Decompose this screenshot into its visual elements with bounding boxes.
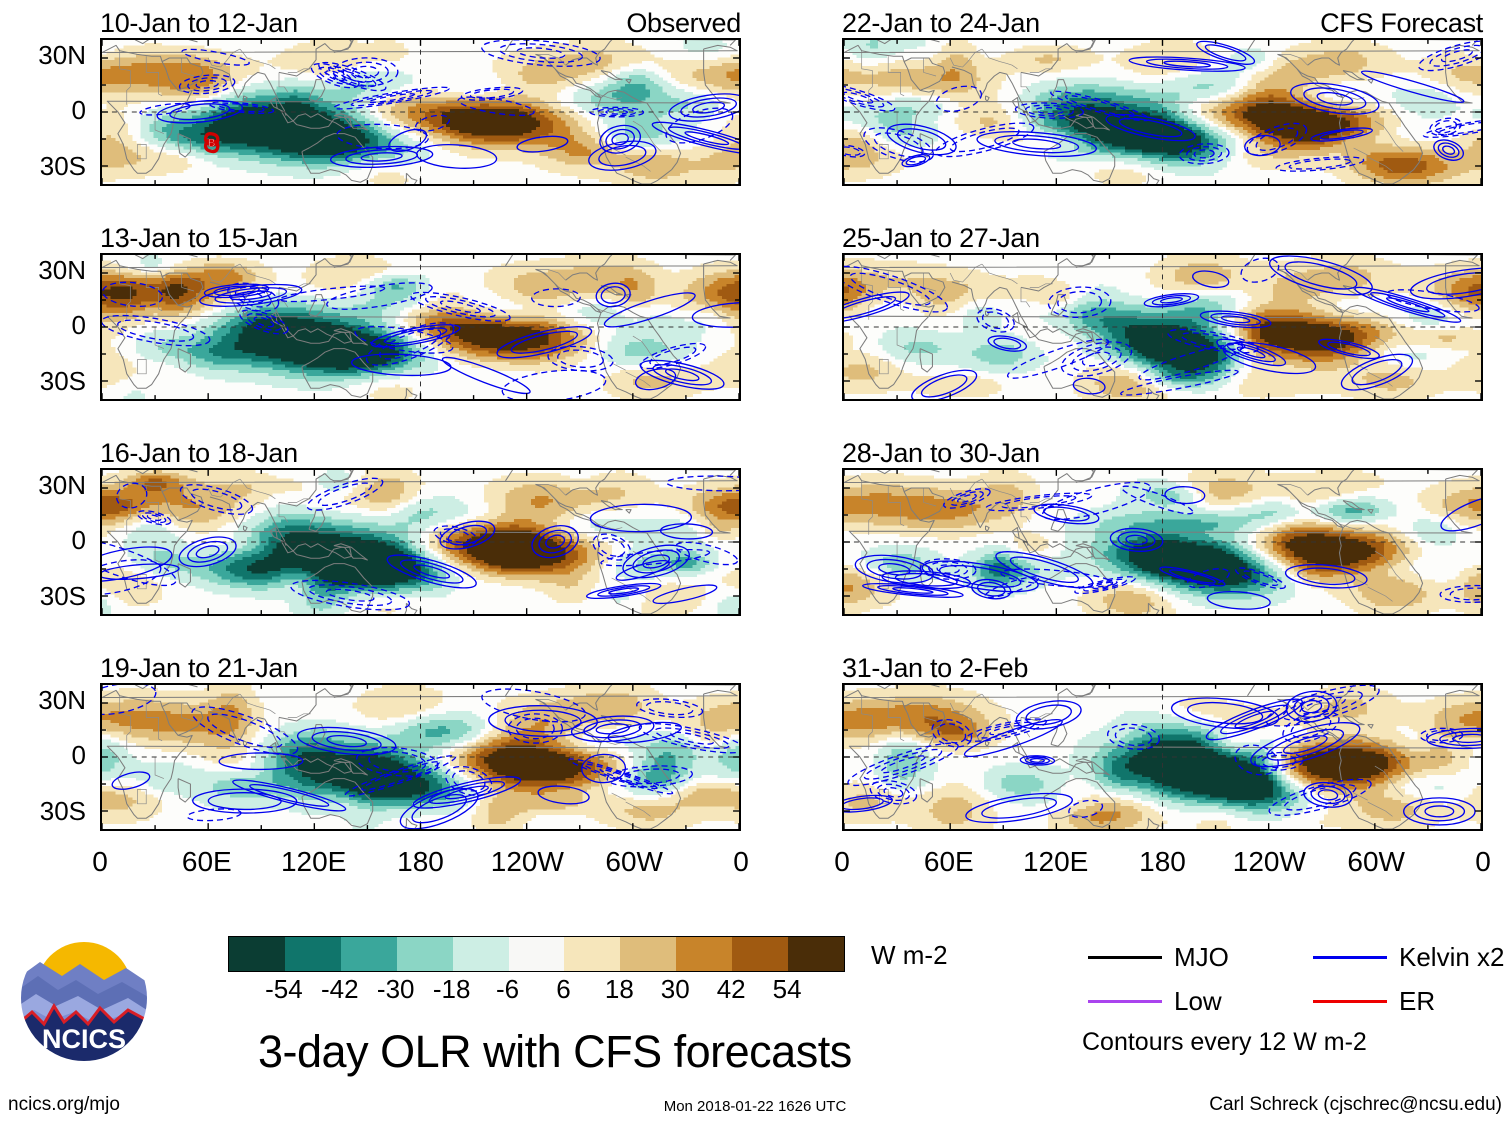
legend-label: Low	[1174, 986, 1222, 1017]
y-axis-tick-label: 30N	[0, 470, 86, 501]
panel-title: 10-Jan to 12-Jan	[100, 8, 298, 39]
y-axis-tick-label: 0	[0, 525, 86, 556]
legend-line-swatch	[1313, 1000, 1387, 1003]
colorbar-tick-label: 42	[717, 974, 746, 1005]
colorbar-tick-label: 30	[661, 974, 690, 1005]
colorbar-swatch	[676, 937, 732, 971]
x-axis-tick-label: 60W	[1347, 846, 1405, 878]
panel-title: 13-Jan to 15-Jan	[100, 223, 298, 254]
colorbar-tick-label: -30	[377, 974, 415, 1005]
colorbar-swatch	[453, 937, 509, 971]
map-plot-area	[842, 253, 1483, 401]
legend-item-er: ER	[1313, 986, 1435, 1017]
panel-title: 22-Jan to 24-Jan	[842, 8, 1040, 39]
y-axis-tick-label: 0	[0, 740, 86, 771]
map-plot-area	[842, 683, 1483, 831]
map-plot-area	[842, 38, 1483, 186]
legend-line-swatch	[1088, 1000, 1162, 1003]
map-plot-area	[100, 253, 741, 401]
x-axis-tick-label: 0	[92, 846, 108, 878]
footer-timestamp: Mon 2018-01-22 1626 UTC	[664, 1098, 847, 1115]
page-title: 3-day OLR with CFS forecasts	[258, 1026, 852, 1078]
colorbar-swatch	[229, 937, 285, 971]
x-axis-tick-label: 60E	[924, 846, 974, 878]
logo-text: NCICS	[42, 1024, 126, 1054]
legend-label: Kelvin x2	[1399, 942, 1505, 973]
x-axis-tick-label: 0	[733, 846, 749, 878]
svg-text:B: B	[208, 138, 215, 150]
colorbar-tick-label: 18	[605, 974, 634, 1005]
y-axis-tick-label: 30S	[0, 366, 86, 397]
map-panel-3: 16-Jan to 18-Jan	[100, 468, 741, 616]
colorbar-swatch	[397, 937, 453, 971]
map-panel-1: 10-Jan to 12-JanObservedB	[100, 38, 741, 186]
y-axis-tick-label: 0	[0, 310, 86, 341]
colorbar-tick-label: -42	[321, 974, 359, 1005]
y-axis-tick-label: 30S	[0, 796, 86, 827]
colorbar-swatch	[509, 937, 565, 971]
ncics-logo[interactable]: NCICS	[18, 932, 150, 1064]
x-axis-tick-label: 120E	[281, 846, 346, 878]
map-plot-area	[100, 468, 741, 616]
legend-label: ER	[1399, 986, 1435, 1017]
x-axis-tick-label: 120E	[1023, 846, 1088, 878]
y-axis-tick-label: 30S	[0, 151, 86, 182]
y-axis-tick-label: 30N	[0, 255, 86, 286]
figure-canvas: 10-Jan to 12-JanObservedB13-Jan to 15-Ja…	[0, 0, 1510, 1121]
legend-line-swatch	[1088, 956, 1162, 959]
x-axis-tick-label: 60E	[182, 846, 232, 878]
y-axis-tick-label: 30S	[0, 581, 86, 612]
map-panel-8: 31-Jan to 2-Feb	[842, 683, 1483, 831]
colorbar-strip	[228, 936, 845, 972]
map-panel-2: 13-Jan to 15-Jan	[100, 253, 741, 401]
x-axis-tick-label: 120W	[491, 846, 564, 878]
footer-website[interactable]: ncics.org/mjo	[8, 1094, 120, 1116]
map-panel-5: 22-Jan to 24-JanCFS Forecast	[842, 38, 1483, 186]
x-axis-tick-label: 180	[397, 846, 444, 878]
colorbar-swatch	[341, 937, 397, 971]
colorbar-tick-label: -18	[433, 974, 471, 1005]
colorbar-unit-label: W m-2	[871, 940, 948, 971]
x-axis-tick-label: 0	[1475, 846, 1491, 878]
colorbar-swatch	[620, 937, 676, 971]
colorbar-tick-label: -54	[265, 974, 303, 1005]
map-plot-area	[100, 683, 741, 831]
x-axis-tick-label: 60W	[605, 846, 663, 878]
column-header: Observed	[626, 8, 741, 39]
panel-title: 25-Jan to 27-Jan	[842, 223, 1040, 254]
map-panel-7: 28-Jan to 30-Jan	[842, 468, 1483, 616]
legend-line-swatch	[1313, 956, 1387, 959]
column-header: CFS Forecast	[1320, 8, 1483, 39]
panel-title: 28-Jan to 30-Jan	[842, 438, 1040, 469]
panel-title: 19-Jan to 21-Jan	[100, 653, 298, 684]
y-axis-tick-label: 30N	[0, 685, 86, 716]
legend-label: MJO	[1174, 942, 1229, 973]
legend-item-low: Low	[1088, 986, 1222, 1017]
colorbar-swatch	[732, 937, 788, 971]
colorbar-tick-label: 6	[556, 974, 570, 1005]
colorbar-tick-label: -6	[496, 974, 519, 1005]
contour-interval-note: Contours every 12 W m-2	[1082, 1028, 1367, 1057]
legend-item-kelvin-x2: Kelvin x2	[1313, 942, 1505, 973]
colorbar-swatch	[788, 937, 844, 971]
panel-title: 16-Jan to 18-Jan	[100, 438, 298, 469]
map-plot-area: B	[100, 38, 741, 186]
y-axis-tick-label: 30N	[0, 40, 86, 71]
y-axis-tick-label: 0	[0, 95, 86, 126]
ncics-logo-graphic: NCICS	[18, 932, 150, 1064]
colorbar-swatch	[285, 937, 341, 971]
x-axis-tick-label: 0	[834, 846, 850, 878]
colorbar-swatch	[564, 937, 620, 971]
panel-title: 31-Jan to 2-Feb	[842, 653, 1028, 684]
x-axis-tick-label: 120W	[1233, 846, 1306, 878]
colorbar-tick-label: 54	[773, 974, 802, 1005]
map-panel-6: 25-Jan to 27-Jan	[842, 253, 1483, 401]
legend-item-mjo: MJO	[1088, 942, 1229, 973]
map-plot-area	[842, 468, 1483, 616]
footer-author: Carl Schreck (cjschrec@ncsu.edu)	[1209, 1094, 1502, 1116]
x-axis-tick-label: 180	[1139, 846, 1186, 878]
map-panel-4: 19-Jan to 21-Jan	[100, 683, 741, 831]
